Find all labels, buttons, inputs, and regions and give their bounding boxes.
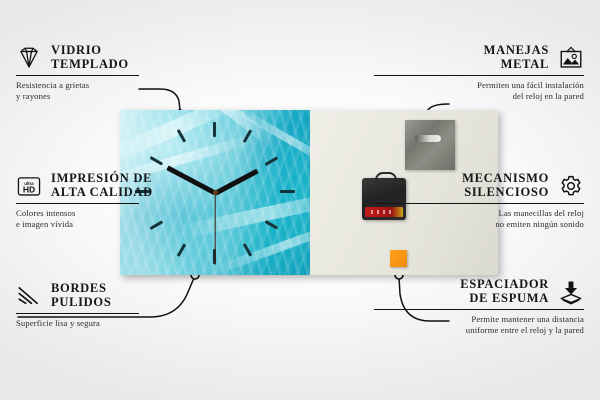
feature-callout-vidrio-templado: VIDRIO TEMPLADO Resistencia a grietas y … <box>16 44 226 102</box>
callout-head: BORDES PULIDOS <box>16 282 226 309</box>
ultra-hd-icon-main: HD <box>23 184 35 194</box>
polished-edge-stripes-icon <box>16 283 42 309</box>
press-down-arrow-icon <box>558 279 584 305</box>
callout-rule <box>16 75 139 76</box>
callout-head: VIDRIO TEMPLADO <box>16 44 226 71</box>
clock-tick-4 <box>265 220 278 229</box>
callout-subtitle-line2: del reloj en la pared <box>374 91 584 102</box>
callout-title-line2: SILENCIOSO <box>462 186 549 200</box>
clock-tick-2 <box>265 156 278 165</box>
callout-subtitle-line2: e imagen vívida <box>16 219 226 230</box>
callout-subtitle-line2: uniforme entre el reloj y la pared <box>374 325 584 336</box>
callout-head: MECANISMO SILENCIOSO <box>374 172 584 199</box>
callout-title-line1: MECANISMO <box>462 172 549 186</box>
callout-subtitle-line1: Permite mantener una distancia <box>374 314 584 325</box>
callout-title-line2: TEMPLADO <box>51 58 129 72</box>
callout-title-line2: METAL <box>484 58 549 72</box>
feature-callout-manejas-metal: MANEJAS METAL Permiten una fácil instala… <box>374 44 584 102</box>
gear-icon <box>558 173 584 199</box>
callout-subtitle-line1: Resistencia a grietas <box>16 80 226 91</box>
callout-subtitle-line1: Las manecillas del reloj <box>374 208 584 219</box>
callout-title-line2: ALTA CALIDAD <box>51 186 153 200</box>
callout-title-line1: ESPACIADOR <box>460 278 549 292</box>
callout-title-line2: DE ESPUMA <box>460 292 549 306</box>
callout-title-line1: BORDES <box>51 282 111 296</box>
callout-title-line1: MANEJAS <box>484 44 549 58</box>
ultra-hd-icon: ultra HD <box>16 173 42 199</box>
feature-callout-mecanismo-silencioso: MECANISMO SILENCIOSO Las manecillas del … <box>374 172 584 230</box>
feature-callout-bordes-pulidos: BORDES PULIDOS Superficie lisa y segura <box>16 282 226 329</box>
feature-callout-espaciador-espuma: ESPACIADOR DE ESPUMA Permite mantener un… <box>374 278 584 336</box>
callout-head: ultra HD IMPRESIÓN DE ALTA CALIDAD <box>16 172 226 199</box>
diamond-icon <box>16 45 42 71</box>
callout-subtitle-line1: Permiten una fácil instalación <box>374 80 584 91</box>
hanger-slot <box>415 135 441 142</box>
clock-tick-7 <box>177 243 186 256</box>
callout-title-line1: IMPRESIÓN DE <box>51 172 153 186</box>
callout-subtitle-line1: Superficie lisa y segura <box>16 318 226 329</box>
callout-rule <box>374 309 584 310</box>
callout-rule <box>374 203 584 204</box>
callout-rule <box>16 203 139 204</box>
callout-subtitle-line2: no emiten ningún sonido <box>374 219 584 230</box>
metal-hanger-plate <box>405 120 455 170</box>
infographic-canvas: VIDRIO TEMPLADO Resistencia a grietas y … <box>0 0 600 400</box>
callout-head: ESPACIADOR DE ESPUMA <box>374 278 584 305</box>
callout-rule <box>16 313 139 314</box>
feature-callout-impresion-alta-calidad: ultra HD IMPRESIÓN DE ALTA CALIDAD Color… <box>16 172 226 230</box>
callout-rule <box>374 75 584 76</box>
foam-spacer <box>390 250 407 267</box>
callout-subtitle-line1: Colores intensos <box>16 208 226 219</box>
callout-head: MANEJAS METAL <box>374 44 584 71</box>
callout-title-line2: PULIDOS <box>51 296 111 310</box>
picture-frame-hanger-icon <box>558 45 584 71</box>
clock-tick-12 <box>213 122 216 137</box>
callout-title-line1: VIDRIO <box>51 44 129 58</box>
clock-tick-3 <box>280 190 295 193</box>
callout-subtitle-line2: y rayones <box>16 91 226 102</box>
